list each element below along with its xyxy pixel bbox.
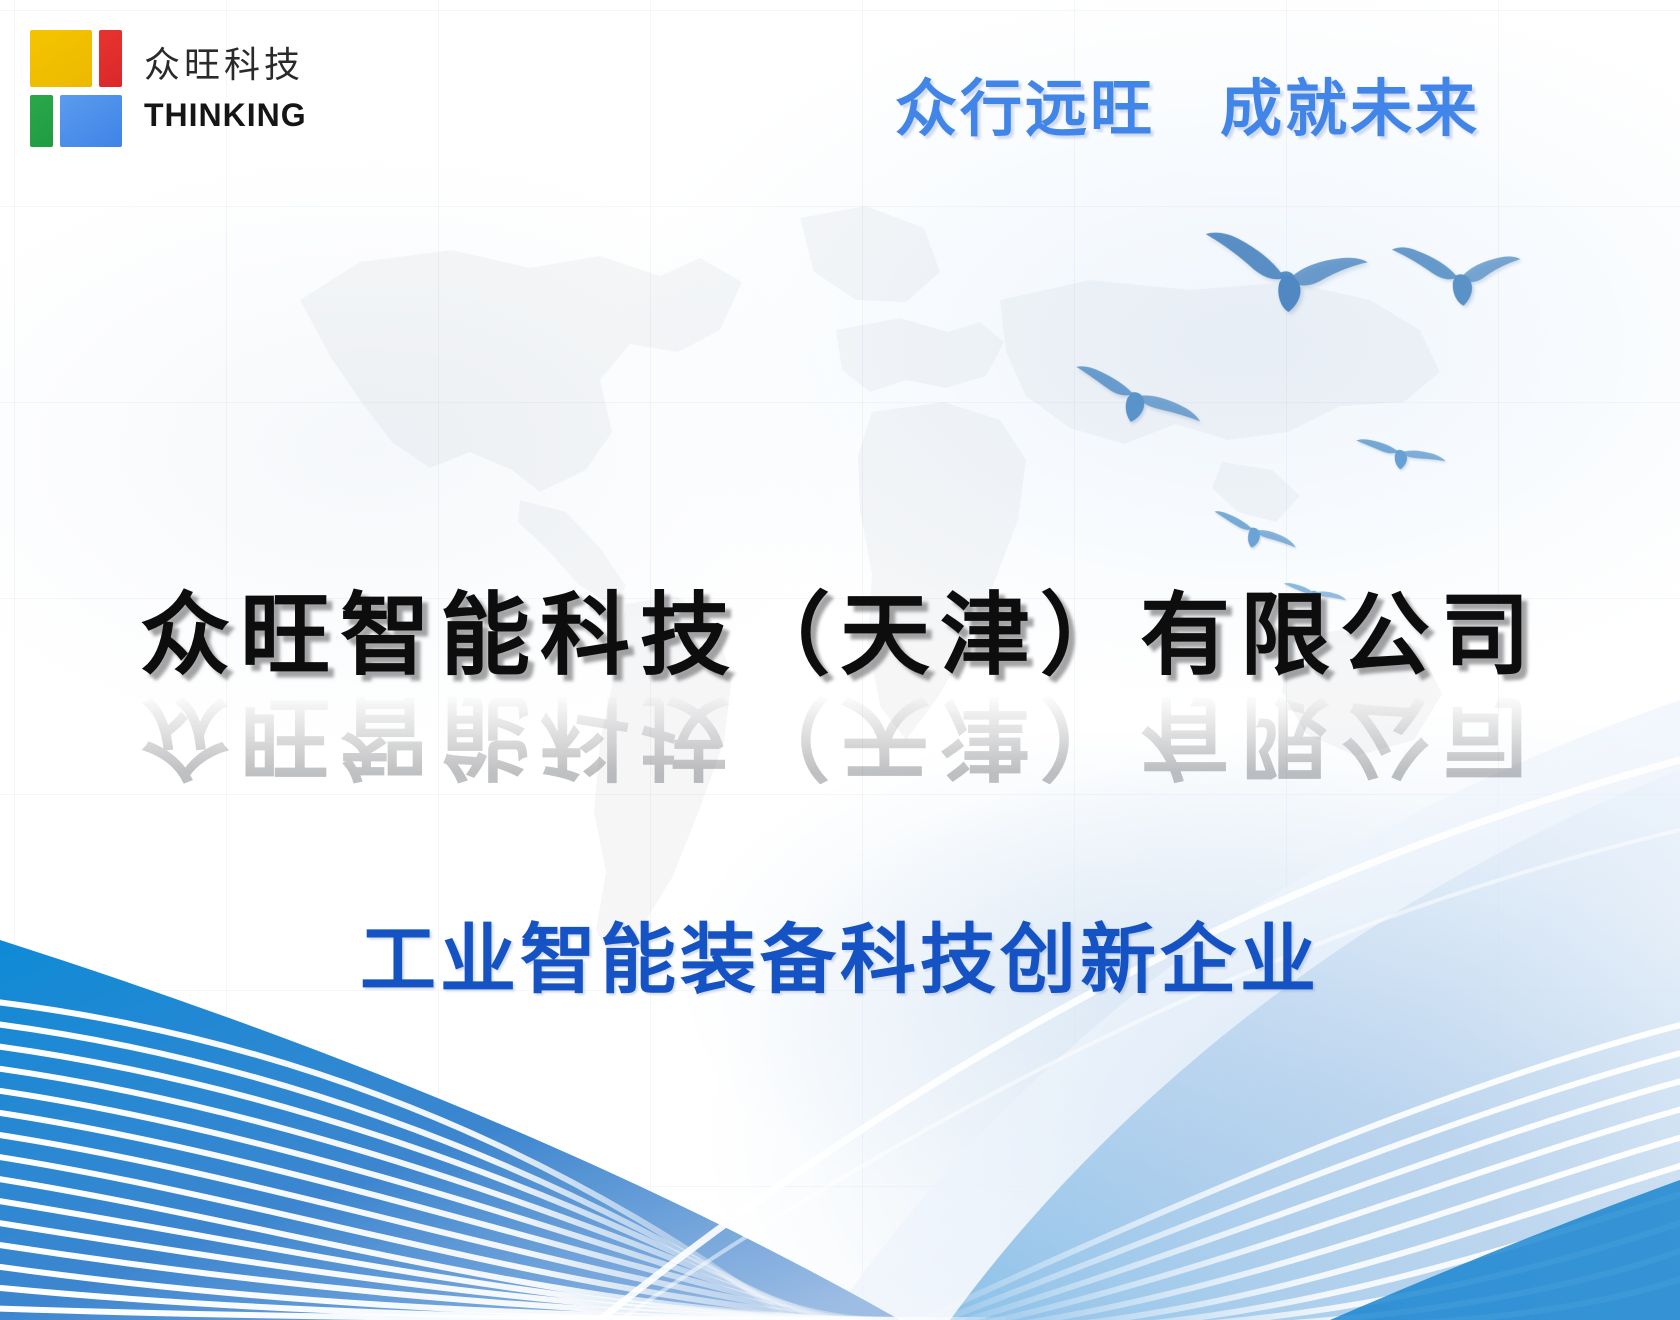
logo-name-cn: 众旺科技 [144,47,307,83]
company-logo: 众旺科技 THINKING [30,30,307,147]
logo-blue-square-icon [60,95,122,147]
logo-wordmark: 众旺科技 THINKING [144,30,307,147]
page-title-reflection: 众旺智能科技（天津）有限公司 [0,687,1680,784]
title-block: 众旺智能科技（天津）有限公司 众旺智能科技（天津）有限公司 [0,588,1680,784]
page-title: 众旺智能科技（天津）有限公司 [0,588,1680,685]
logo-yellow-square-icon [30,30,92,87]
seagull-icon [1355,429,1448,477]
logo-green-bar-icon [30,95,53,147]
page-subtitle: 工业智能装备科技创新企业 [0,898,1680,1008]
header-tagline: 众行远旺 成就未来 [895,58,1480,148]
seagull-icon [1070,358,1207,436]
logo-name-en: THINKING [144,99,307,131]
logo-mark-group [30,30,122,147]
slide-header: 众旺科技 THINKING 众行远旺 成就未来 [0,0,1680,190]
presentation-slide: 众旺科技 THINKING 众行远旺 成就未来 众旺智能科技（天津）有限公司 众… [0,0,1680,1320]
seagull-icon [1197,213,1374,326]
seagull-icon [1209,505,1300,557]
logo-red-bar-icon [99,30,122,87]
seagull-icon [1386,220,1528,323]
